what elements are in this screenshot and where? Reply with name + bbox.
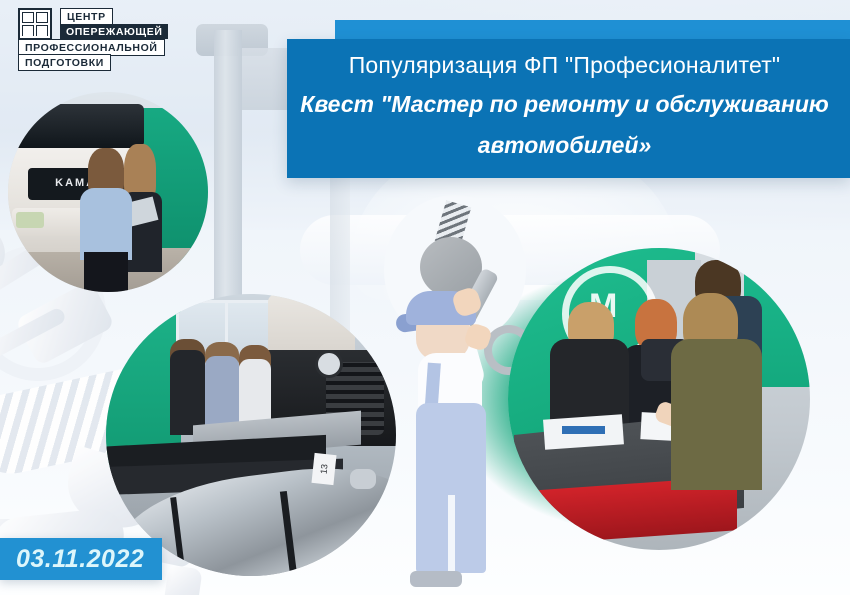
date-badge-text: 03.11.2022: [0, 545, 144, 574]
title-banner: Популяризация ФП "Професионалитет" Квест…: [287, 39, 850, 178]
photo3-student-b-body: [671, 339, 762, 490]
mechanic-shoe: [410, 571, 462, 587]
photo2-station-number-tag: 13: [311, 452, 336, 484]
photo2-tank-cap: [350, 469, 376, 489]
photo3-document-chart-bar: [562, 426, 604, 434]
photo1-student-a-pants: [84, 252, 128, 292]
photo-kamaz-truck-students: KAMAZ: [8, 92, 208, 292]
title-banner-accent-bar: [335, 20, 850, 39]
title-line-3: автомобилей»: [287, 132, 842, 159]
mechanic-with-wrench-illustration: [392, 195, 522, 595]
photo2-gauge: [315, 350, 343, 378]
organization-logo: ЦЕНТР ОПЕРЕЖАЮЩЕЙ ПРОФЕССИОНАЛЬНОЙ ПОДГО…: [16, 6, 216, 68]
mechanic-leg-split: [448, 495, 455, 581]
photo1-student-a-body: [80, 188, 132, 260]
logo-line-training: ПОДГОТОВКИ: [18, 54, 111, 71]
photo1-headlamp-left: [16, 212, 44, 228]
title-line-1: Популяризация ФП "Професионалитет": [287, 52, 842, 79]
poster-canvas: KAMAZ 13: [0, 0, 850, 595]
photo1-windshield: [12, 104, 144, 148]
co-monogram-icon: [18, 8, 52, 40]
photo-chassis-fuel-tank: 13: [106, 294, 396, 576]
logo-line-centre: ЦЕНТР: [60, 8, 113, 25]
logo-line-advanced: ОПЕРЕЖАЮЩЕЙ: [60, 24, 168, 39]
photo-students-red-workbench: M: [508, 248, 810, 550]
title-line-2: Квест "Мастер по ремонту и обслуживанию: [287, 91, 842, 118]
photo2-student-a-body: [170, 350, 205, 435]
date-badge: 03.11.2022: [0, 538, 162, 580]
